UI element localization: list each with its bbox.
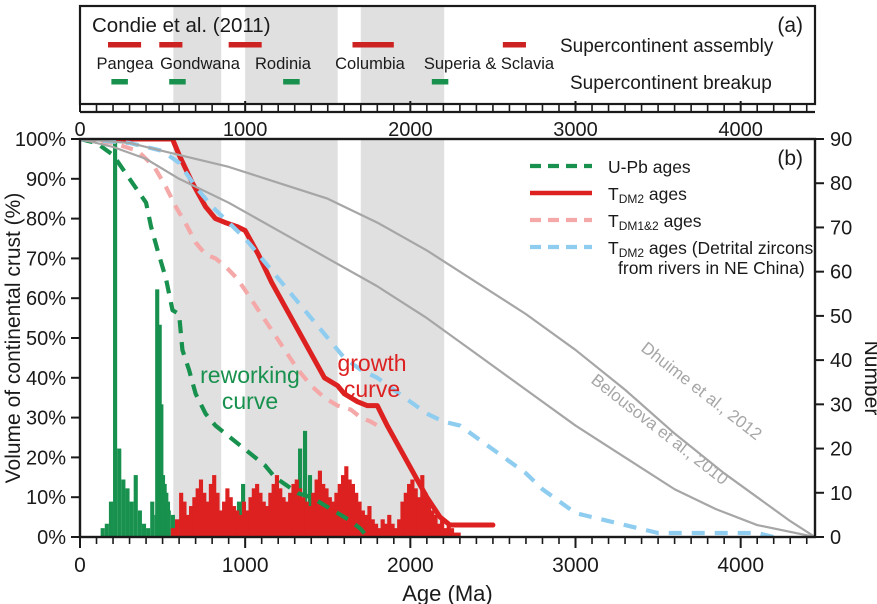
supercontinent-name: Gondwana	[160, 55, 241, 73]
histogram-bar	[117, 449, 121, 537]
panel-b-x-axis: 01000200030004000Age (Ma)	[74, 537, 807, 604]
panel-b-left-axis: 0%10%20%30%40%50%60%70%80%90%100%Volume …	[2, 129, 80, 549]
left-ytick-label: 10%	[26, 487, 66, 509]
right-ytick-label: 40	[830, 350, 852, 372]
plot-annotation: curve	[344, 376, 400, 402]
supercontinent-name: Rodinia	[255, 55, 312, 73]
plot-annotation: growth	[337, 350, 406, 376]
supercontinent-name: Columbia	[335, 55, 406, 73]
legend-breakup-label: Supercontinent breakup	[570, 73, 772, 94]
right-ytick-label: 10	[830, 483, 852, 505]
panel-a-xtick-label: 1000	[223, 119, 268, 141]
supercontinent-pangea: Pangea	[97, 42, 155, 85]
panel-a-axis: 01000200030004000	[74, 101, 815, 141]
right-ytick-label: 70	[830, 217, 852, 239]
left-ytick-label: 90%	[26, 169, 66, 191]
legend-assembly-label: Supercontinent assembly	[560, 36, 774, 57]
left-ytick-label: 70%	[26, 248, 66, 270]
assembly-bar	[108, 42, 129, 48]
panel-b-xtick-label: 3000	[552, 554, 599, 577]
left-ytick-label: 30%	[26, 408, 66, 430]
left-axis-title: Volume of continental crust (%)	[2, 193, 25, 484]
histogram-bar	[121, 480, 125, 537]
right-ytick-label: 50	[830, 306, 852, 328]
legend-label: TDM1&2 ages	[608, 211, 702, 233]
panel-b-xtick-label: 0	[74, 554, 86, 577]
legend-label: TDM2 ages (Detrital zircons	[608, 238, 814, 260]
assembly-bar	[229, 42, 262, 48]
assembly-bar	[353, 42, 366, 48]
panel-a-label: (a)	[777, 14, 803, 37]
histogram-bar	[138, 510, 142, 537]
breakup-bar	[111, 79, 128, 85]
supercontinent-name: Pangea	[97, 55, 155, 73]
right-ytick-label: 80	[830, 173, 852, 195]
breakup-bar	[169, 79, 186, 85]
legend-label-line2: from rivers in NE China)	[618, 258, 805, 278]
panel-b-xtick-label: 2000	[387, 554, 434, 577]
histogram-bar	[134, 475, 138, 537]
histogram-bar	[150, 502, 154, 537]
left-ytick-label: 0%	[37, 527, 66, 549]
panel-a-source-label: Condie et al. (2011)	[92, 14, 271, 37]
plot-annotation: curve	[222, 388, 278, 414]
histogram-bar	[105, 524, 109, 537]
histogram-bar	[146, 528, 150, 537]
plot-annotation: reworking	[200, 362, 300, 388]
histogram-bar	[109, 502, 113, 537]
panel-b-legend: U-Pb agesTDM2 agesTDM1&2 agesTDM2 ages (…	[530, 157, 814, 278]
panel-a-xtick-label: 2000	[388, 119, 433, 141]
histogram-bar	[113, 121, 117, 537]
x-axis-title: Age (Ma)	[402, 581, 492, 604]
left-ytick-label: 100%	[15, 129, 66, 151]
left-ytick-label: 40%	[26, 368, 66, 390]
histogram-bar	[175, 519, 179, 537]
right-ytick-label: 30	[830, 394, 852, 416]
left-ytick-label: 50%	[26, 328, 66, 350]
panel-a-xtick-label: 4000	[718, 119, 763, 141]
legend-label: TDM2 ages	[608, 184, 687, 206]
panel-b-xtick-label: 4000	[717, 554, 764, 577]
panel-a-xtick-label: 0	[74, 119, 85, 141]
figure-container: Condie et al. (2011)(a)PangeaGondwanaRod…	[0, 0, 877, 604]
panel-b-label: (b)	[777, 147, 803, 170]
histogram-bar	[167, 510, 171, 537]
histogram-bar	[125, 488, 129, 537]
left-ytick-label: 60%	[26, 288, 66, 310]
histogram-bar	[171, 528, 175, 537]
left-ytick-label: 20%	[26, 447, 66, 469]
right-ytick-label: 90	[830, 129, 852, 151]
left-ytick-label: 80%	[26, 209, 66, 231]
panel-b-xtick-label: 1000	[222, 554, 269, 577]
panel-b-right-axis: 0102030405060708090Number	[815, 129, 877, 549]
breakup-bar	[283, 79, 300, 85]
panel-b: reworkingcurvegrowthcurveDhuime et al., …	[80, 121, 815, 537]
right-ytick-label: 0	[830, 527, 841, 549]
assembly-bar	[503, 42, 526, 48]
figure-svg: Condie et al. (2011)(a)PangeaGondwanaRod…	[0, 0, 877, 604]
supercontinent-name: Superia & Sclavia	[424, 55, 555, 73]
panel-b-shaded-band	[245, 139, 337, 537]
right-axis-title: Number	[860, 341, 877, 416]
panel-a-xtick-label: 3000	[553, 119, 598, 141]
legend-label: U-Pb ages	[608, 157, 691, 177]
right-ytick-label: 60	[830, 262, 852, 284]
panel-b-shaded-band	[361, 139, 444, 537]
right-ytick-label: 20	[830, 439, 852, 461]
histogram-bar	[142, 524, 146, 537]
assembly-bar	[159, 42, 182, 48]
breakup-bar	[432, 79, 449, 85]
histogram-bar	[130, 502, 134, 537]
panel-a: Condie et al. (2011)(a)PangeaGondwanaRod…	[80, 6, 815, 104]
histogram-bar	[101, 528, 105, 537]
